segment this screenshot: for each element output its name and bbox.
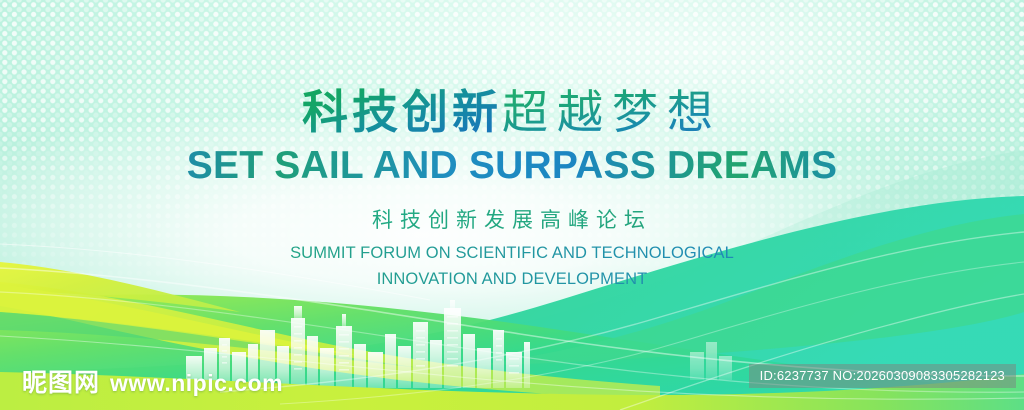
poster-canvas: 科技创新超越梦想 SET SAIL AND SURPASS DREAMS 科技创… [0, 0, 1024, 410]
headline-block: 科技创新超越梦想 SET SAIL AND SURPASS DREAMS 科技创… [0, 0, 1024, 293]
city-skyline-right [690, 342, 732, 380]
watermark-logo-text: 昵图网 [22, 371, 100, 396]
wave-green-body [0, 295, 1024, 410]
watermark-url: www.nipic.com [110, 372, 283, 396]
wave-yellow-ribbon-lower [0, 282, 660, 400]
wave-green-thin-left [0, 312, 420, 368]
subtitle-english-line1: SUMMIT FORUM ON SCIENTIFIC AND TECHNOLOG… [0, 234, 1024, 267]
watermark: 昵图网 www.nipic.com [22, 371, 283, 396]
wave-yellow-band [0, 284, 360, 356]
subtitle-chinese: 科技创新发展高峰论坛 [0, 188, 1024, 234]
city-skyline-silhouette [186, 296, 534, 388]
subtitle-english-line2: INNOVATION AND DEVELOPMENT [0, 266, 1024, 293]
headline-english: SET SAIL AND SURPASS DREAMS [0, 138, 1024, 188]
headline-chinese-part1: 科技创新 [302, 86, 502, 138]
headline-chinese: 科技创新超越梦想 [0, 0, 1024, 138]
id-badge: ID:6237737 NO:20260309083305282123 [749, 364, 1016, 388]
headline-chinese-part2: 超越梦想 [502, 86, 722, 138]
